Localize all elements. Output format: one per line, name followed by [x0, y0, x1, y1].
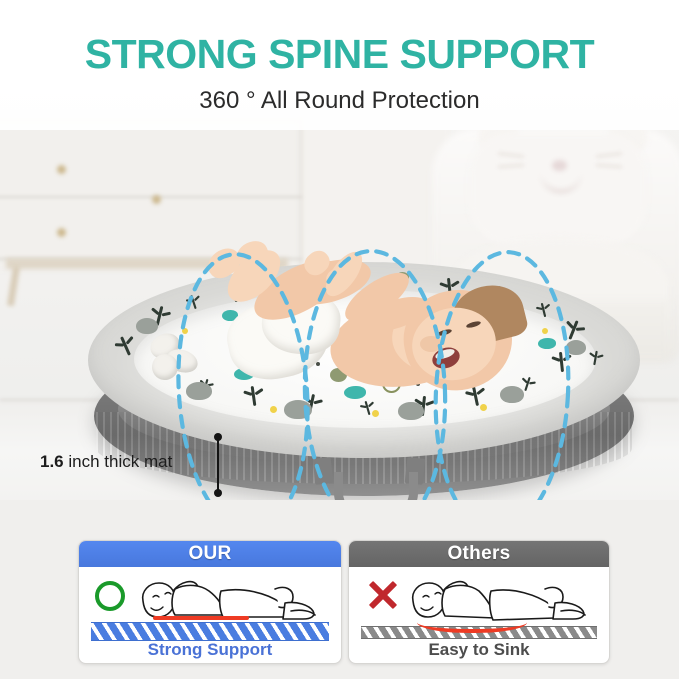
- panel-title-our: OUR: [79, 541, 341, 567]
- cross-x-icon: [367, 579, 399, 611]
- mat-hatch-blue: [91, 622, 329, 641]
- dresser-knob: [57, 228, 66, 237]
- header-band: STRONG SPINE SUPPORT 360 ° All Round Pro…: [0, 0, 679, 130]
- panel-caption-our: Strong Support: [79, 640, 341, 660]
- dresser-knob: [57, 165, 66, 174]
- dresser-seam: [0, 196, 302, 198]
- armchair-nose: [552, 160, 567, 171]
- thickness-callout: 1.6 inch thick mat: [40, 452, 172, 472]
- blurred-cabinet: [300, 108, 450, 276]
- panel-body-our: Strong Support: [79, 567, 341, 663]
- thickness-value: 1.6: [40, 452, 64, 471]
- spine-line-straight: [153, 616, 249, 620]
- check-circle-icon: [95, 581, 125, 611]
- lounger-fabric-bow: [150, 330, 208, 384]
- spine-line-sagging: [417, 611, 527, 633]
- comparison-panel-others: Others: [348, 540, 610, 664]
- product-feature-image: 1.6 inch thick mat STRONG SPINE SUPPORT …: [0, 0, 679, 679]
- cabinet-edge: [300, 108, 302, 276]
- dresser-knob: [152, 195, 161, 204]
- page-title: STRONG SPINE SUPPORT: [0, 31, 679, 77]
- thickness-measure-line: [217, 437, 219, 493]
- comparison-panel-our: OUR: [78, 540, 342, 664]
- thickness-unit: inch thick mat: [64, 452, 173, 471]
- page-subtitle: 360 ° All Round Protection: [0, 87, 679, 115]
- section-fade: [0, 500, 679, 530]
- panel-body-others: Easy to Sink: [349, 567, 609, 663]
- panel-caption-others: Easy to Sink: [349, 640, 609, 660]
- panel-title-others: Others: [349, 541, 609, 567]
- lounger-strap-left: [313, 457, 334, 485]
- comparison-section: OUR: [0, 500, 679, 679]
